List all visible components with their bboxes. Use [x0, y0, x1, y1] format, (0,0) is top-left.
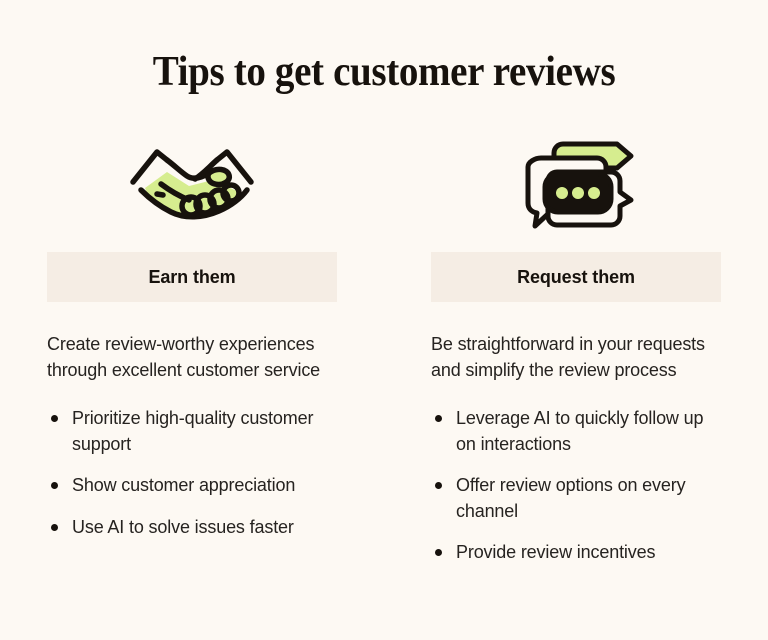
list-item-label: Show customer appreciation	[72, 475, 295, 495]
bullet-dot-icon	[435, 415, 442, 422]
bullet-dot-icon	[435, 549, 442, 556]
list-item-label: Prioritize high-quality customer support	[72, 408, 313, 454]
column-request-them: Request them Be straightforward in your …	[384, 130, 768, 566]
list-item-label: Provide review incentives	[456, 542, 655, 562]
list-item-label: Use AI to solve issues faster	[72, 517, 294, 537]
typing-dot	[588, 187, 600, 199]
list-item: Leverage AI to quickly follow up on inte…	[431, 406, 721, 457]
list-item: Show customer appreciation	[47, 473, 337, 499]
bullet-dot-icon	[435, 482, 442, 489]
list-item-label: Offer review options on every channel	[456, 475, 685, 521]
infographic-canvas: Tips to get customer reviews	[0, 0, 768, 640]
column-body: Be straightforward in your requests and …	[431, 332, 721, 566]
handshake-icon	[127, 130, 257, 242]
list-item: Offer review options on every channel	[431, 473, 721, 524]
header-bar-earn-them: Earn them	[47, 252, 337, 302]
list-item-label: Leverage AI to quickly follow up on inte…	[456, 408, 703, 454]
columns-container: Earn them Create review-worthy experienc…	[0, 130, 768, 566]
chat-bubbles-icon	[513, 130, 639, 242]
typing-dot	[556, 187, 568, 199]
column-earn-them: Earn them Create review-worthy experienc…	[0, 130, 384, 566]
list-item: Use AI to solve issues faster	[47, 515, 337, 541]
column-intro: Be straightforward in your requests and …	[431, 332, 721, 383]
column-body: Create review-worthy experiences through…	[47, 332, 337, 540]
bullet-dot-icon	[51, 482, 58, 489]
bullet-list: Leverage AI to quickly follow up on inte…	[431, 406, 721, 566]
bullet-dot-icon	[51, 415, 58, 422]
header-bar-request-them: Request them	[431, 252, 721, 302]
list-item: Prioritize high-quality customer support	[47, 406, 337, 457]
typing-dot	[572, 187, 584, 199]
bullet-list: Prioritize high-quality customer support…	[47, 406, 337, 540]
list-item: Provide review incentives	[431, 540, 721, 566]
bullet-dot-icon	[51, 524, 58, 531]
header-bar-label: Request them	[517, 267, 635, 288]
column-intro: Create review-worthy experiences through…	[47, 332, 337, 383]
page-title: Tips to get customer reviews	[27, 48, 741, 96]
header-bar-label: Earn them	[148, 267, 235, 288]
